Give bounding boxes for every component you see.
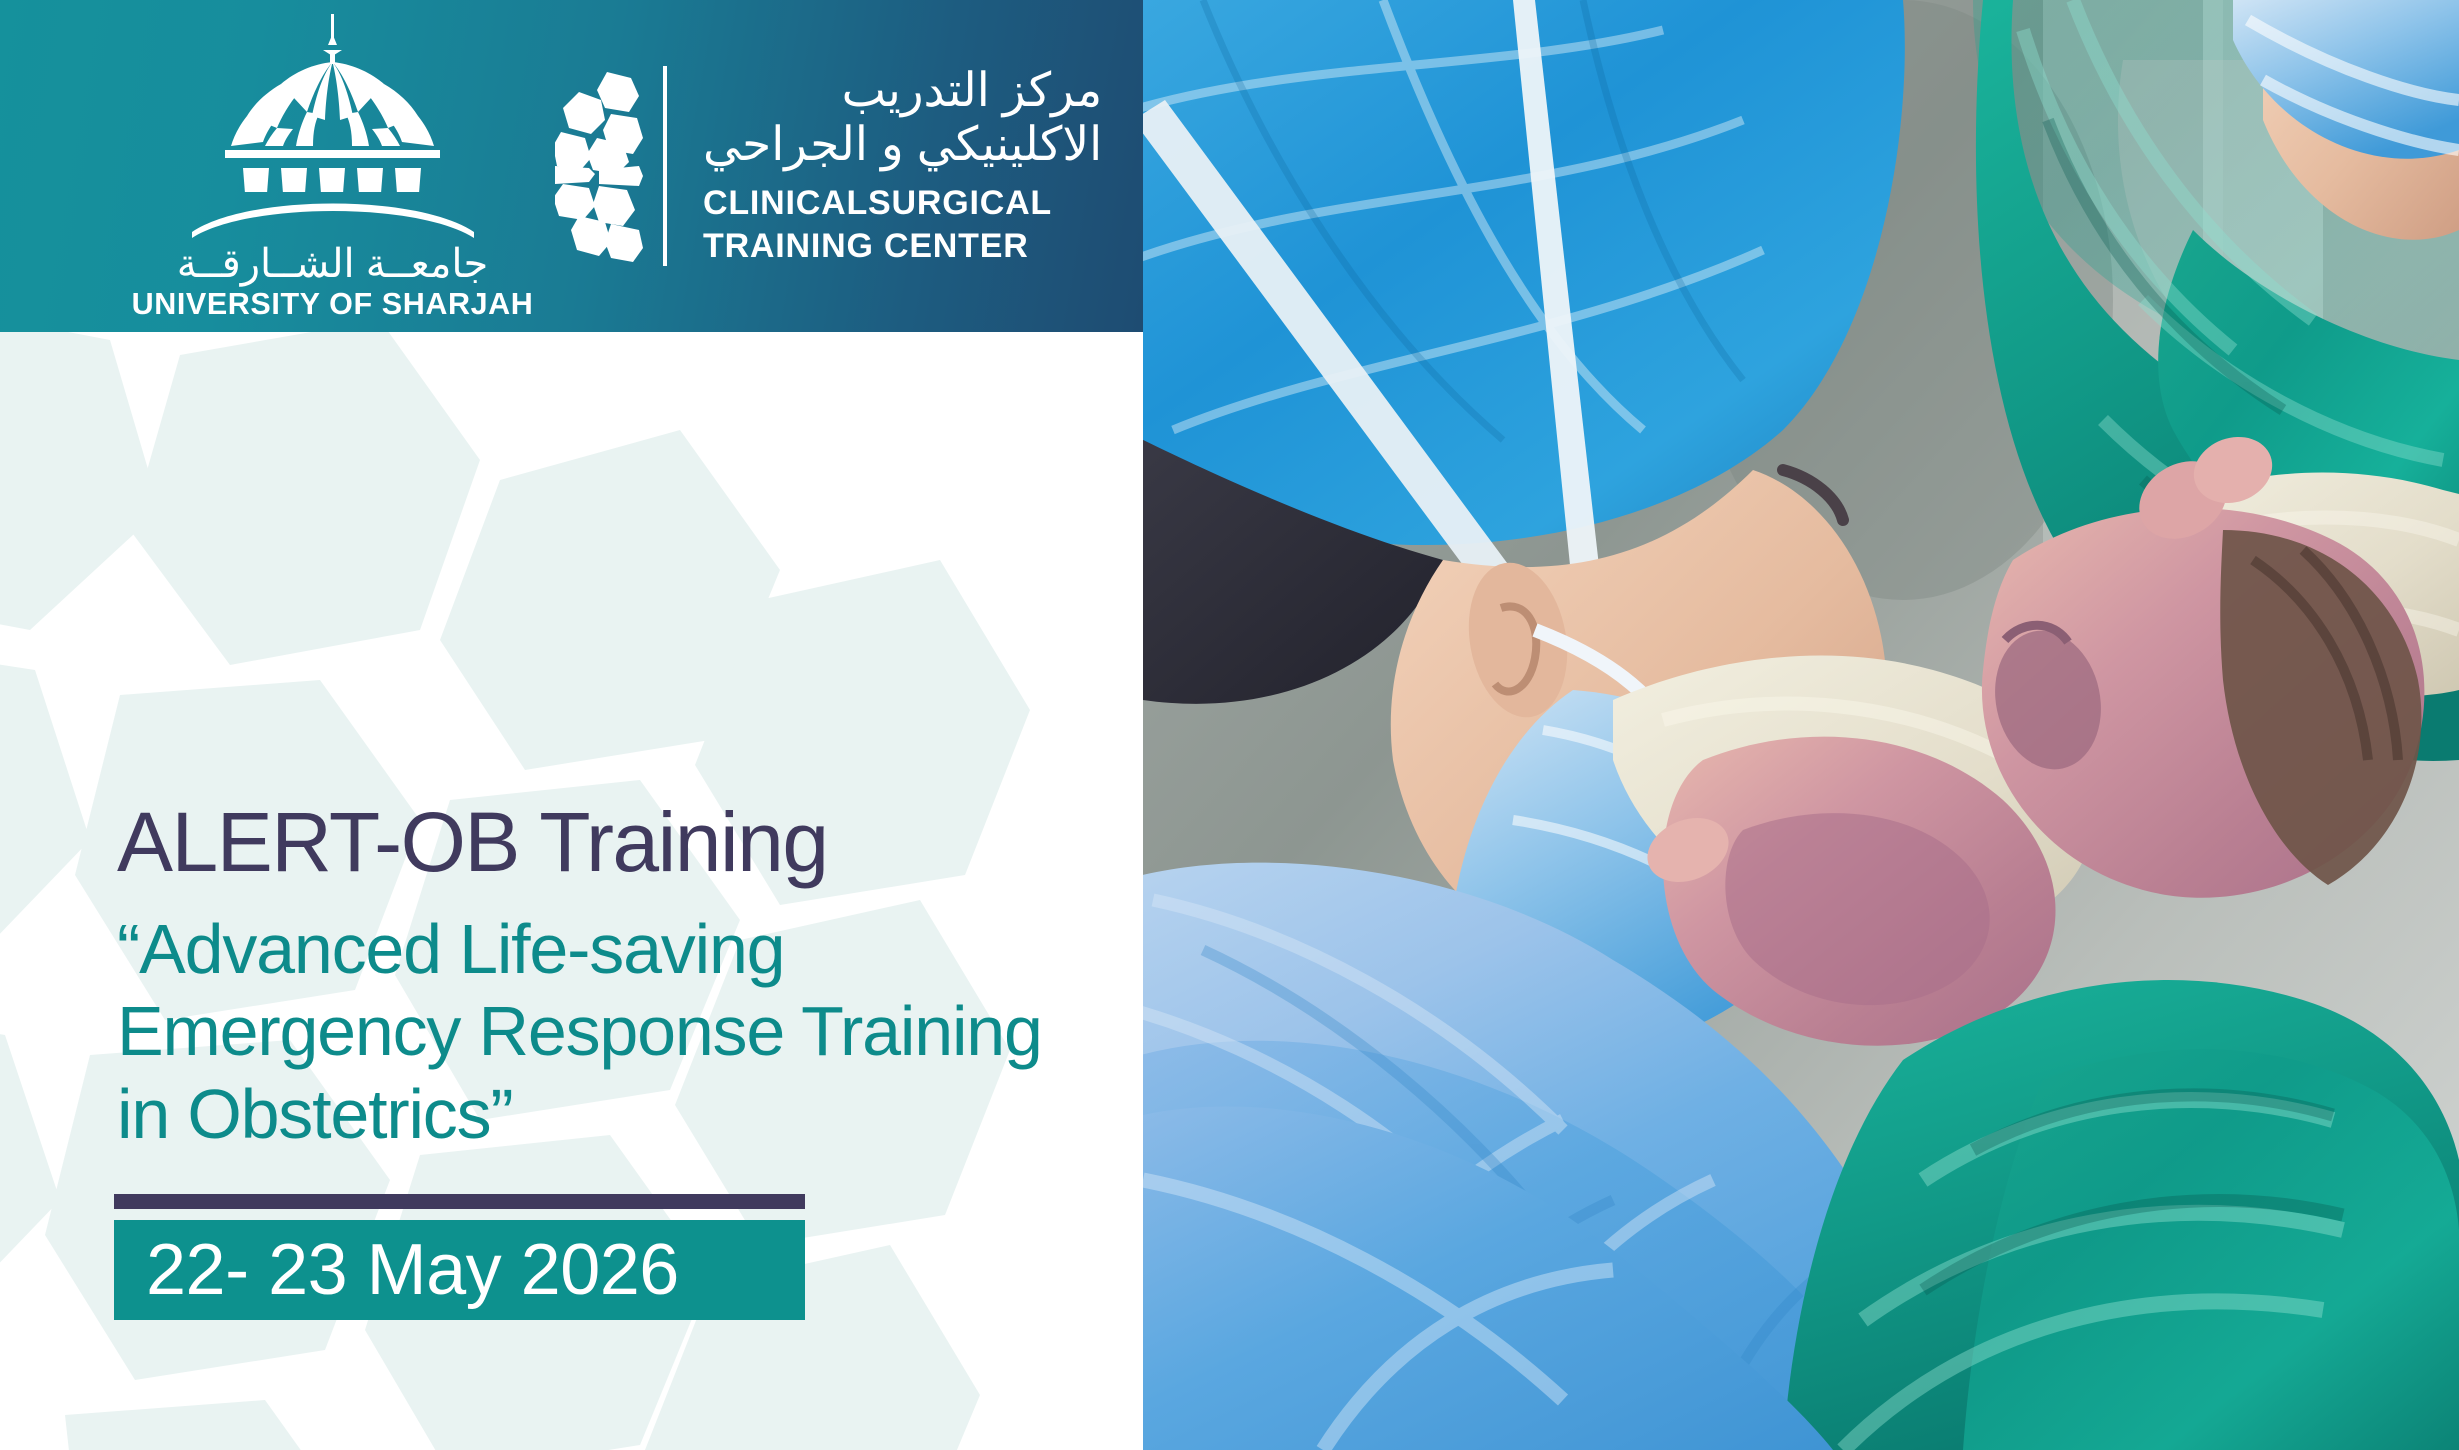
logo-divider — [663, 66, 667, 266]
event-date-text: 22- 23 May 2026 — [146, 1234, 679, 1306]
cstc-name-arabic-line1: مركز التدريب — [703, 63, 1102, 117]
left-content-panel: جامعــة الشــارقــة UNIVERSITY OF SHARJA… — [0, 0, 1143, 1450]
cstc-name-english-line2: TRAINING CENTER — [703, 225, 1102, 269]
date-accent-rule — [114, 1194, 805, 1209]
mosque-base-arc-icon — [188, 192, 478, 240]
clinical-surgical-training-center-logo: مركز التدريب الاكلينيكي و الجراحي CLINIC… — [555, 63, 1102, 268]
cstc-name-arabic-line2: الاكلينيكي و الجراحي — [703, 117, 1102, 171]
hero-photo — [1143, 0, 2459, 1450]
subtitle-line-2: Emergency Response Training — [117, 990, 1097, 1073]
uos-name-english: UNIVERSITY OF SHARJAH — [132, 289, 534, 320]
university-of-sharjah-logo: جامعــة الشــارقــة UNIVERSITY OF SHARJA… — [160, 12, 505, 320]
subtitle-line-3: in Obstetrics” — [117, 1073, 1097, 1156]
date-badge: 22- 23 May 2026 — [114, 1220, 805, 1320]
subtitle-line-1: “Advanced Life-saving — [117, 908, 1097, 991]
cstc-name-english-line1: CLINICALSURGICAL — [703, 182, 1102, 226]
uos-name-arabic: جامعــة الشــارقــة — [177, 244, 489, 284]
event-date-block: 22- 23 May 2026 — [114, 1194, 805, 1320]
islamic-geometric-pattern-icon — [555, 66, 643, 266]
event-poster: جامعــة الشــارقــة UNIVERSITY OF SHARJA… — [0, 0, 2459, 1450]
event-title-block: ALERT-OB Training “Advanced Life-saving … — [117, 800, 1097, 1155]
page-title: ALERT-OB Training — [117, 800, 1097, 886]
operating-theatre-delivery-illustration — [1143, 0, 2459, 1450]
mosque-dome-icon — [195, 12, 470, 192]
event-subtitle: “Advanced Life-saving Emergency Response… — [117, 908, 1097, 1156]
brand-header-bar: جامعــة الشــارقــة UNIVERSITY OF SHARJA… — [0, 0, 1143, 332]
